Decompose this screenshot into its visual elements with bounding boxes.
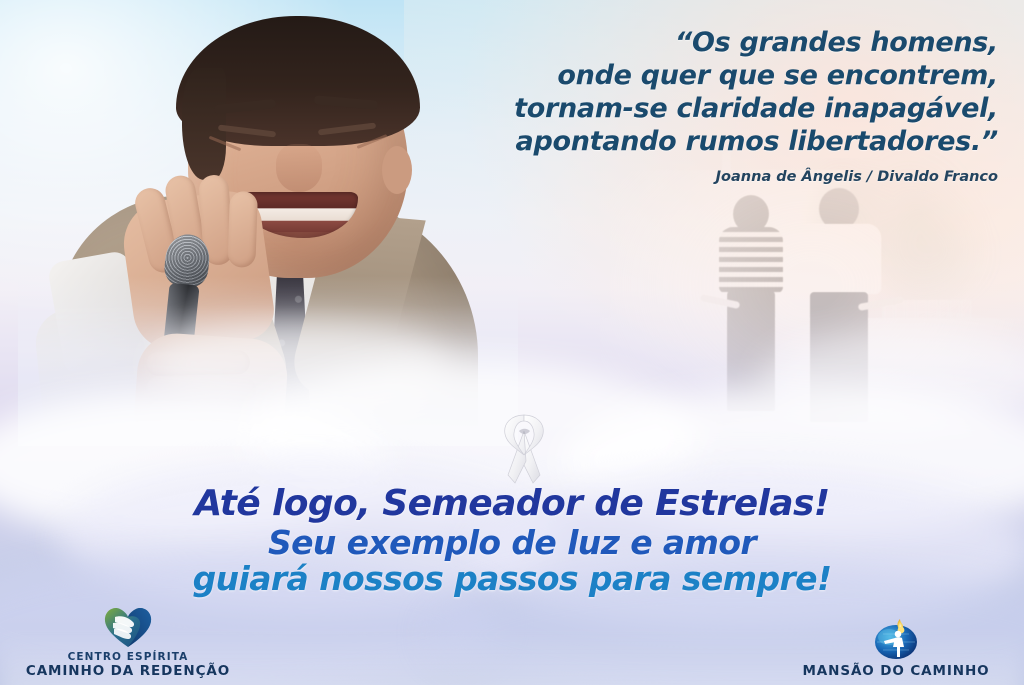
quote-line-2: onde quer que se encontrem, [298, 59, 998, 92]
headline-line-1: Até logo, Semeador de Estrelas! [0, 486, 1024, 523]
quote-block: “Os grandes homens, onde quer que se enc… [298, 26, 998, 185]
quote-attribution: Joanna de Ângelis / Divaldo Franco [298, 169, 998, 185]
background-person-adult [796, 188, 882, 433]
headline-line-3: guiará nossos passos para sempre! [0, 562, 1024, 596]
headline-line-2: Seu exemplo de luz e amor [0, 526, 1024, 560]
logo-left-line-1: CENTRO ESPÍRITA [8, 651, 248, 663]
white-mourning-ribbon-icon [493, 409, 555, 489]
quote-line-4: apontando rumos libertadores.” [298, 125, 998, 158]
globe-figure-flame-logo-icon [776, 619, 1016, 661]
memorial-poster: “Os grandes homens, onde quer que se enc… [0, 0, 1024, 685]
background-person-child [718, 195, 784, 425]
portrait-bottom-fade [18, 276, 518, 446]
background-photo-two-people-walking [600, 150, 1024, 450]
quote-line-1: “Os grandes homens, [298, 26, 998, 59]
quote-line-3: tornam-se claridade inapagável, [298, 92, 998, 125]
logo-left-line-2: CAMINHO DA REDENÇÃO [8, 663, 248, 679]
heart-hands-logo-icon [8, 605, 248, 649]
logo-mansao-do-caminho: MANSÃO DO CAMINHO [776, 619, 1016, 679]
headline-block: Até logo, Semeador de Estrelas! Seu exem… [0, 486, 1024, 596]
logo-centro-espirita: CENTRO ESPÍRITA CAMINHO DA REDENÇÃO [8, 605, 248, 679]
logo-right-line-1: MANSÃO DO CAMINHO [776, 663, 1016, 679]
